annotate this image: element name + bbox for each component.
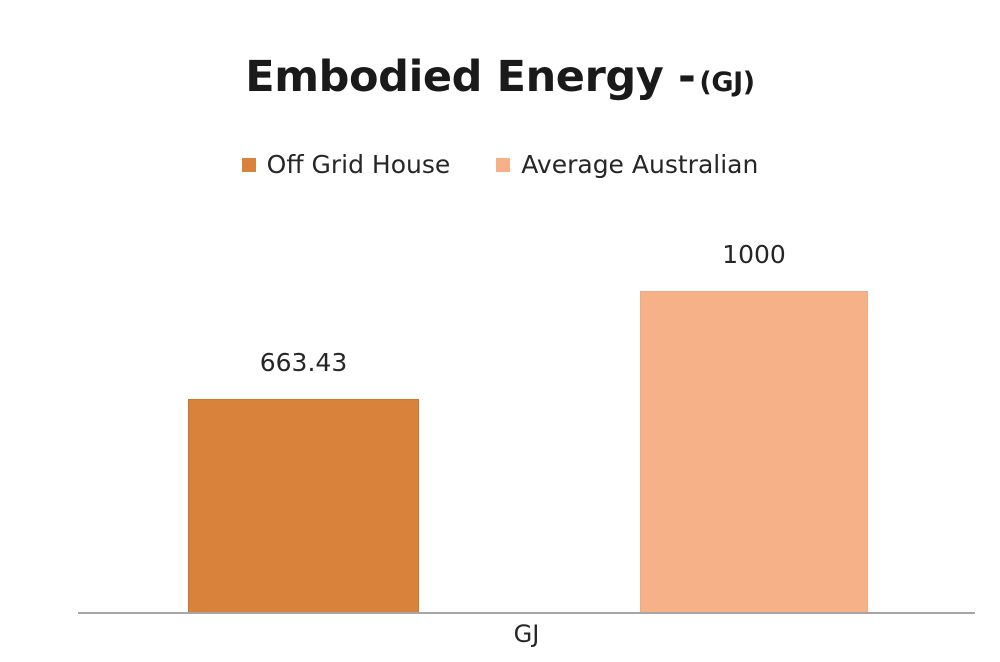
x-axis-line: [78, 612, 975, 614]
bar-average-australian[interactable]: [640, 291, 868, 613]
bar-value-label-off-grid-house: 663.43: [188, 350, 419, 375]
bar-off-grid-house[interactable]: [188, 399, 419, 613]
x-axis-label: GJ: [78, 622, 975, 646]
chart-container: Embodied Energy -(GJ) Off Grid House Ave…: [0, 0, 1000, 662]
bar-value-label-average-australian: 1000: [640, 242, 868, 267]
plot-area: 663.43 1000 GJ: [0, 0, 1000, 662]
